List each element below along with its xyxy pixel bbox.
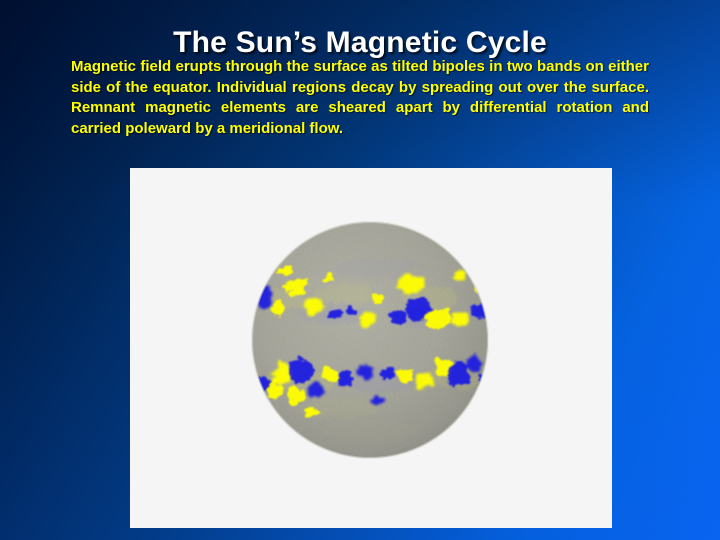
active-region-north-positive — [372, 294, 384, 304]
slide: The Sun’s Magnetic Cycle Magnetic field … — [0, 0, 720, 540]
active-region-south-negative — [466, 357, 482, 371]
active-region-south-positive — [287, 388, 305, 404]
active-region-north-positive — [324, 272, 336, 280]
page-title: The Sun’s Magnetic Cycle — [0, 26, 720, 60]
active-region-north-positive — [278, 266, 292, 276]
active-region-south-negative — [372, 396, 384, 404]
active-region-north-positive — [454, 271, 466, 281]
solar-magnetogram-image — [130, 168, 612, 528]
active-region-south-negative — [358, 365, 374, 379]
active-region-north-positive — [451, 313, 469, 327]
body-paragraph-text: Magnetic field erupts through the surfac… — [71, 58, 649, 137]
active-region-north-negative — [328, 307, 342, 319]
body-paragraph: Magnetic field erupts through the surfac… — [71, 57, 649, 139]
active-region-south-positive — [304, 407, 320, 417]
active-region-south-negative — [308, 383, 324, 397]
active-region-north-negative — [346, 306, 358, 316]
picture-panel — [130, 168, 612, 528]
active-region-south-positive — [397, 369, 415, 383]
active-region-south-negative — [381, 368, 395, 380]
active-region-north-negative — [390, 311, 406, 325]
